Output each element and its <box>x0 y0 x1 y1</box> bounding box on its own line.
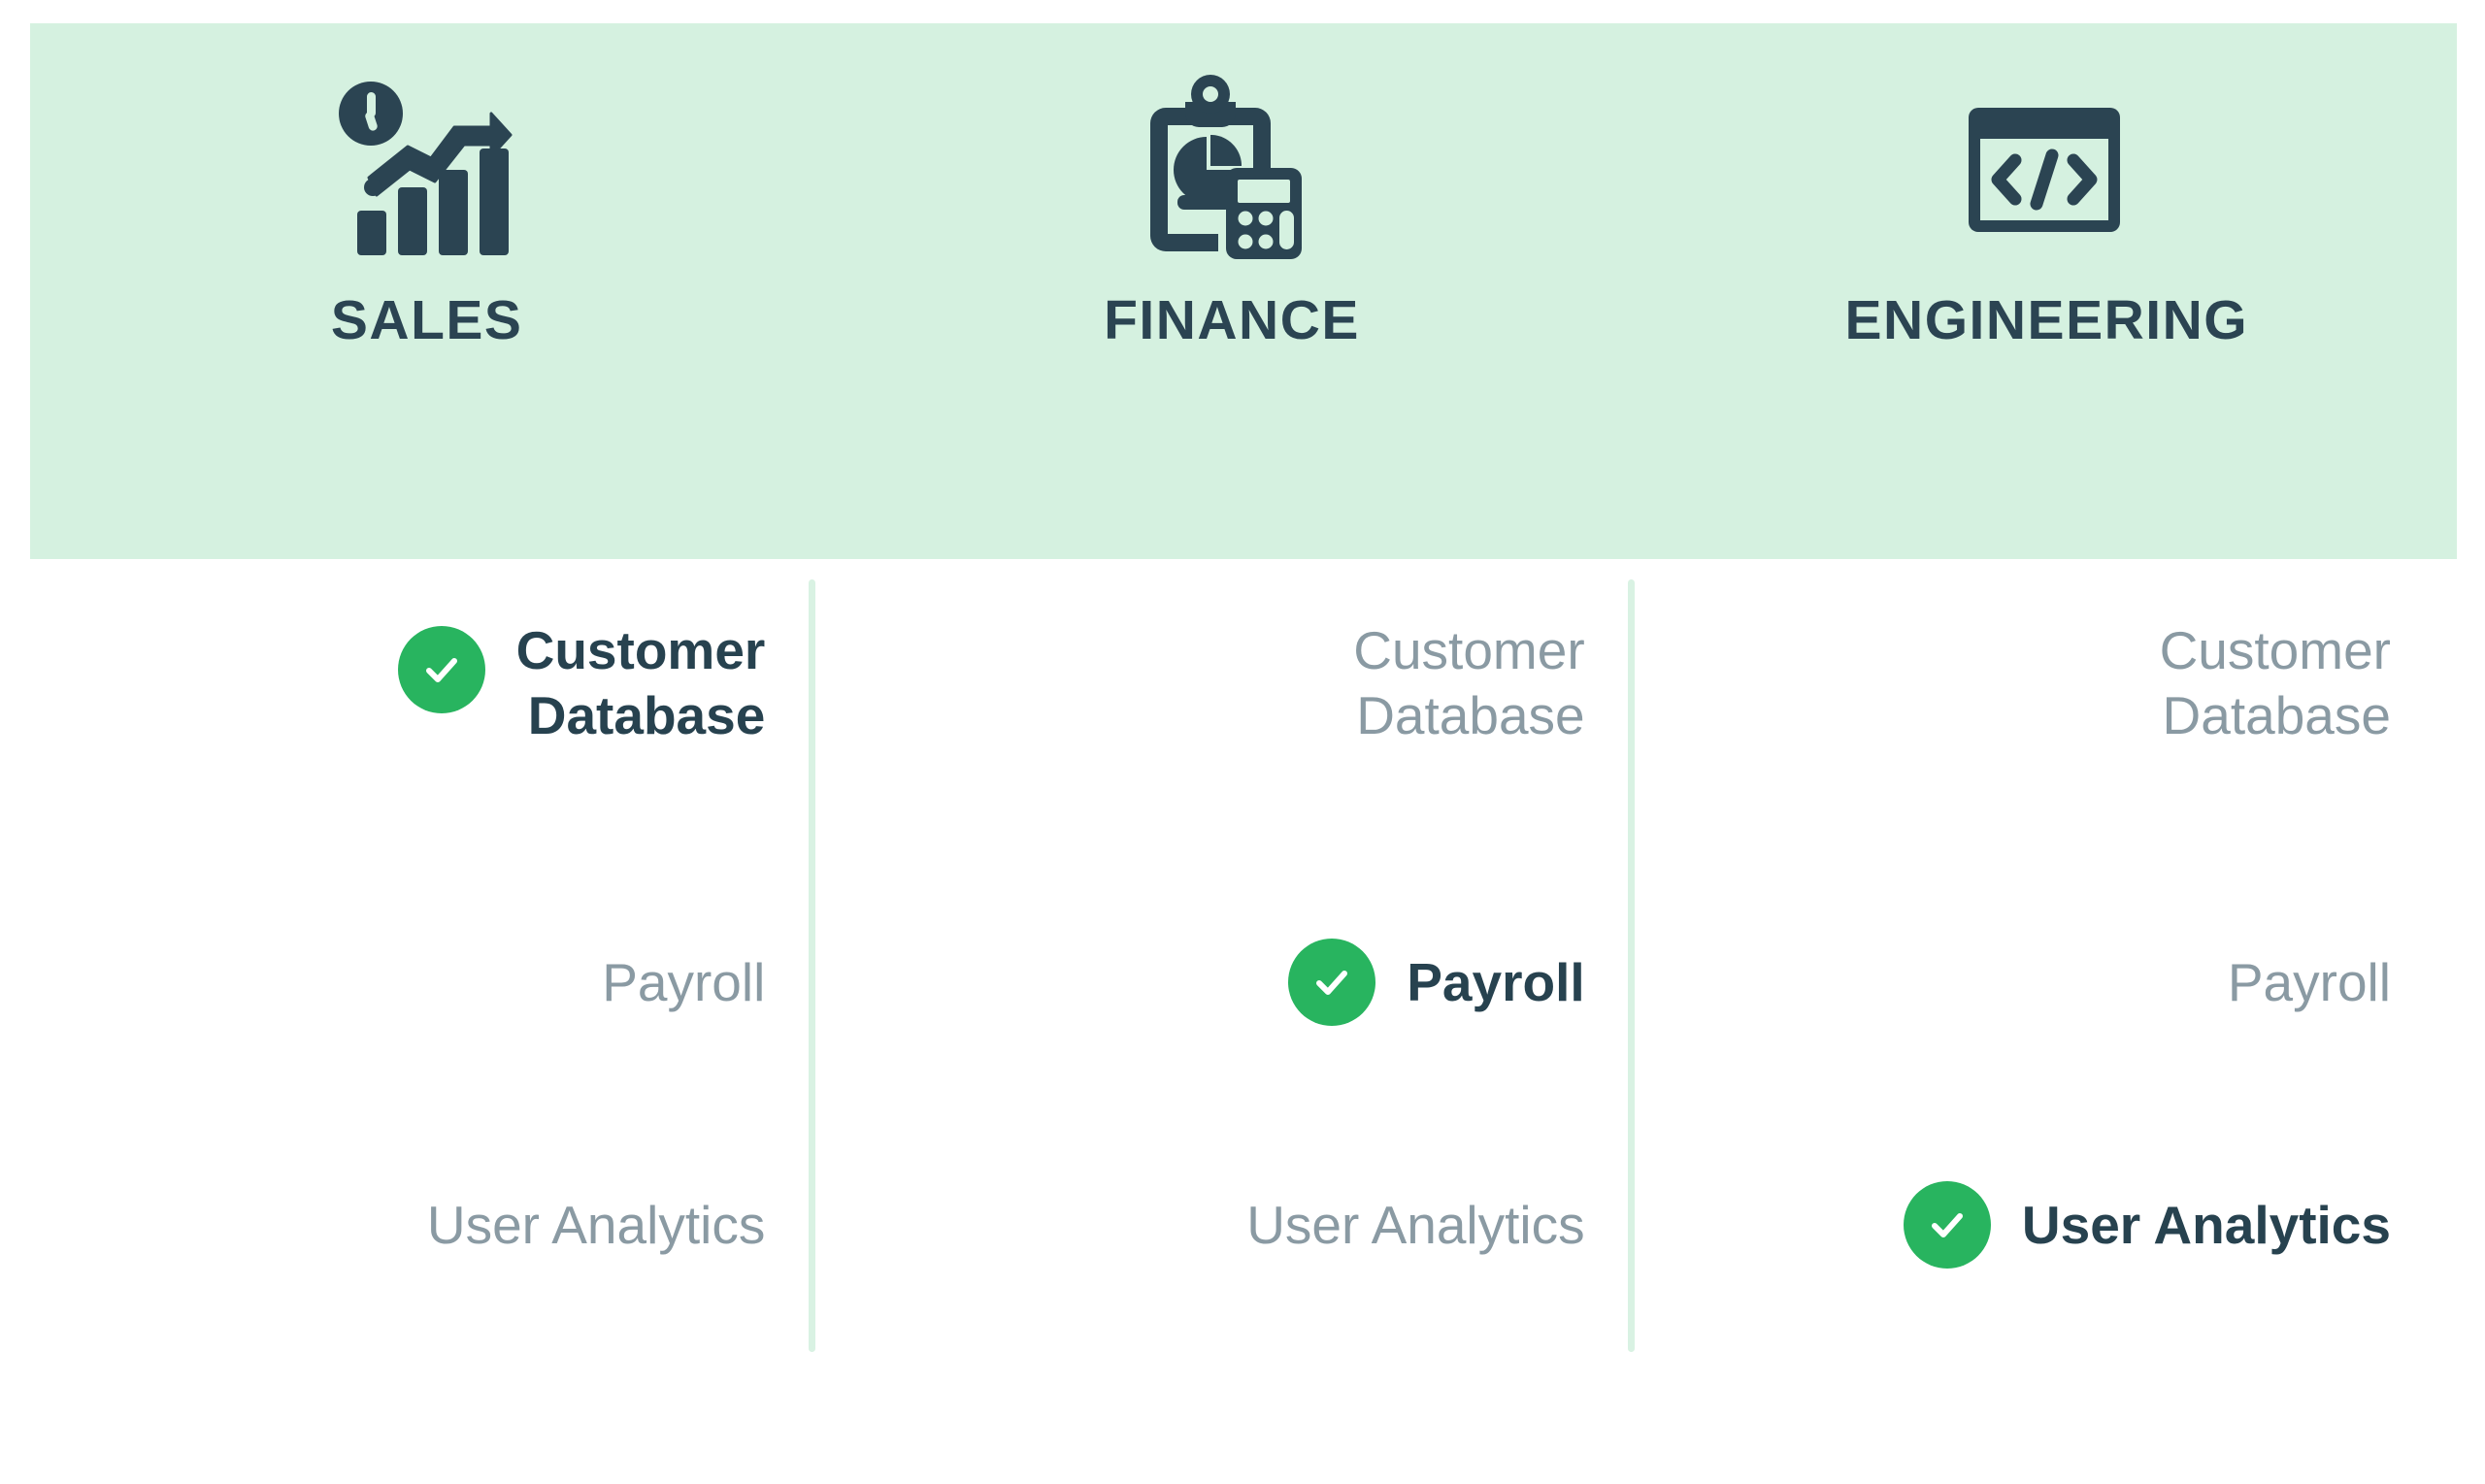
matrix-column-finance: Customer Database Payroll User Analytics <box>839 579 1647 1352</box>
code-window-icon <box>1947 60 2141 274</box>
check-icon <box>1904 1181 1991 1269</box>
department-column-engineering[interactable]: ENGINEERING <box>1648 23 2457 559</box>
department-label: ENGINEERING <box>1845 293 2249 348</box>
matrix-cell[interactable]: User Analytics <box>30 1104 839 1352</box>
ownership-matrix-diagram: SALES <box>0 0 2485 1484</box>
matrix-cell[interactable]: User Analytics <box>1648 1104 2457 1352</box>
growth-chart-icon <box>330 60 524 274</box>
department-label: FINANCE <box>1104 293 1360 348</box>
resource-label: Payroll <box>602 950 765 1015</box>
resource-label: Payroll <box>1407 950 1584 1015</box>
resource-label: Customer Database <box>1353 618 1584 747</box>
department-label: SALES <box>331 293 523 348</box>
matrix-cell[interactable]: Payroll <box>30 861 839 1104</box>
department-column-finance[interactable]: FINANCE <box>839 23 1647 559</box>
resource-label: User Analytics <box>2022 1193 2391 1258</box>
matrix-cell[interactable]: Payroll <box>1648 861 2457 1104</box>
resource-label: User Analytics <box>427 1193 765 1258</box>
check-icon <box>1288 939 1375 1026</box>
resource-label: Customer Database <box>2160 618 2391 747</box>
matrix-cell[interactable]: Customer Database <box>30 579 839 861</box>
matrix-cell[interactable]: Payroll <box>839 861 1647 1104</box>
check-icon <box>398 626 485 713</box>
resource-label: Payroll <box>2228 950 2391 1015</box>
matrix-column-engineering: Customer Database Payroll User Analytics <box>1648 579 2457 1352</box>
matrix-cell[interactable]: User Analytics <box>839 1104 1647 1352</box>
department-header-band: SALES <box>30 23 2457 559</box>
matrix-cell[interactable]: Customer Database <box>1648 579 2457 861</box>
ownership-matrix-body: Customer Database Payroll User Analytics… <box>30 579 2457 1352</box>
matrix-column-sales: Customer Database Payroll User Analytics <box>30 579 839 1352</box>
department-column-sales[interactable]: SALES <box>30 23 839 559</box>
resource-label: Customer Database <box>516 618 766 747</box>
resource-label: User Analytics <box>1246 1193 1584 1258</box>
matrix-cell[interactable]: Customer Database <box>839 579 1647 861</box>
clipboard-calculator-icon <box>1133 60 1327 274</box>
